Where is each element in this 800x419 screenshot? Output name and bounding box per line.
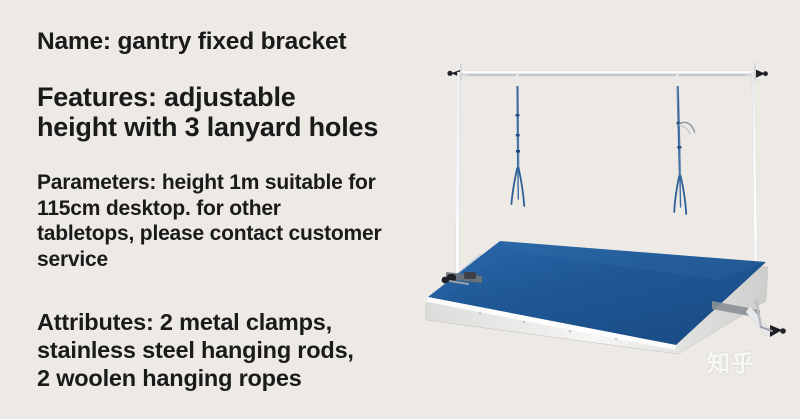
product-info-banner: Name: gantry fixed bracket Features: adj… [0, 0, 800, 419]
right-end-knob-icon [754, 63, 768, 81]
grooming-table [426, 241, 768, 354]
product-features-text: Features: adjustable height with 3 lanya… [37, 82, 378, 142]
top-rail [456, 71, 758, 77]
product-attributes-text: Attributes: 2 metal clamps, stainless st… [37, 308, 354, 392]
product-photo [420, 0, 800, 419]
product-parameters-text: Parameters: height 1m suitable for 115cm… [37, 170, 381, 272]
product-name-text: Name: gantry fixed bracket [37, 28, 346, 56]
left-hanging-rope [511, 74, 524, 206]
right-hanging-rope [674, 74, 694, 214]
